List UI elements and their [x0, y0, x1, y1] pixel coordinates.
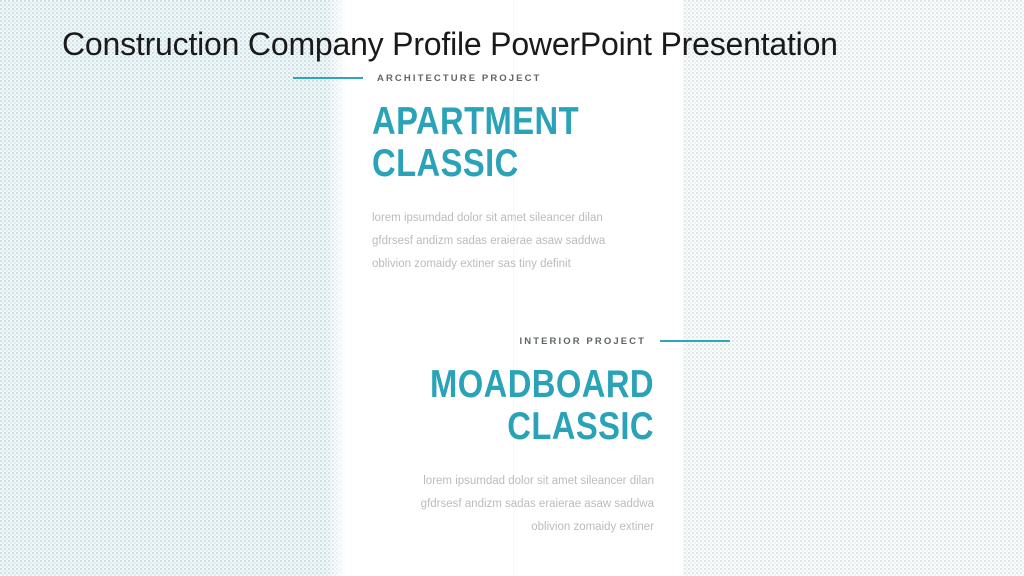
headline-group-interior: MOADBOARD CLASSIC — [330, 364, 654, 448]
eyebrow-label-interior: INTERIOR PROJECT — [520, 336, 647, 347]
eyebrow-row-architecture: ARCHITECTURE PROJECT — [293, 71, 693, 85]
headline-line-1-interior: MOADBOARD — [382, 364, 654, 406]
body-line: lorem ipsumdad dolor sit amet sileancer … — [372, 207, 693, 230]
slide-canvas: Construction Company Profile PowerPoint … — [0, 0, 1024, 576]
eyebrow-label-architecture: ARCHITECTURE PROJECT — [377, 73, 541, 84]
page-title: Construction Company Profile PowerPoint … — [62, 22, 962, 66]
eyebrow-row-interior: INTERIOR PROJECT — [330, 334, 730, 348]
headline-line-2-architecture: CLASSIC — [372, 143, 642, 185]
background-tint-right — [683, 0, 1024, 576]
accent-rule-icon — [660, 340, 730, 342]
body-line: oblivion zomaidy extiner — [330, 516, 654, 539]
body-line: oblivion zomaidy extiner sas tiny defini… — [372, 253, 693, 276]
body-copy-interior: lorem ipsumdad dolor sit amet sileancer … — [330, 470, 654, 539]
headline-group-architecture: APARTMENT CLASSIC — [372, 101, 693, 185]
body-line: lorem ipsumdad dolor sit amet sileancer … — [330, 470, 654, 493]
headline-line-2-interior: CLASSIC — [382, 406, 654, 448]
body-copy-architecture: lorem ipsumdad dolor sit amet sileancer … — [372, 207, 693, 276]
accent-rule-icon — [293, 77, 363, 79]
body-line: gfdrsesf andizm sadas eraierae asaw sadd… — [372, 230, 693, 253]
body-line: gfdrsesf andizm sadas eraierae asaw sadd… — [330, 493, 654, 516]
headline-line-1-architecture: APARTMENT — [372, 101, 642, 143]
section-architecture-project: ARCHITECTURE PROJECT APARTMENT CLASSIC l… — [293, 71, 693, 276]
section-interior-project: INTERIOR PROJECT MOADBOARD CLASSIC lorem… — [330, 334, 730, 539]
